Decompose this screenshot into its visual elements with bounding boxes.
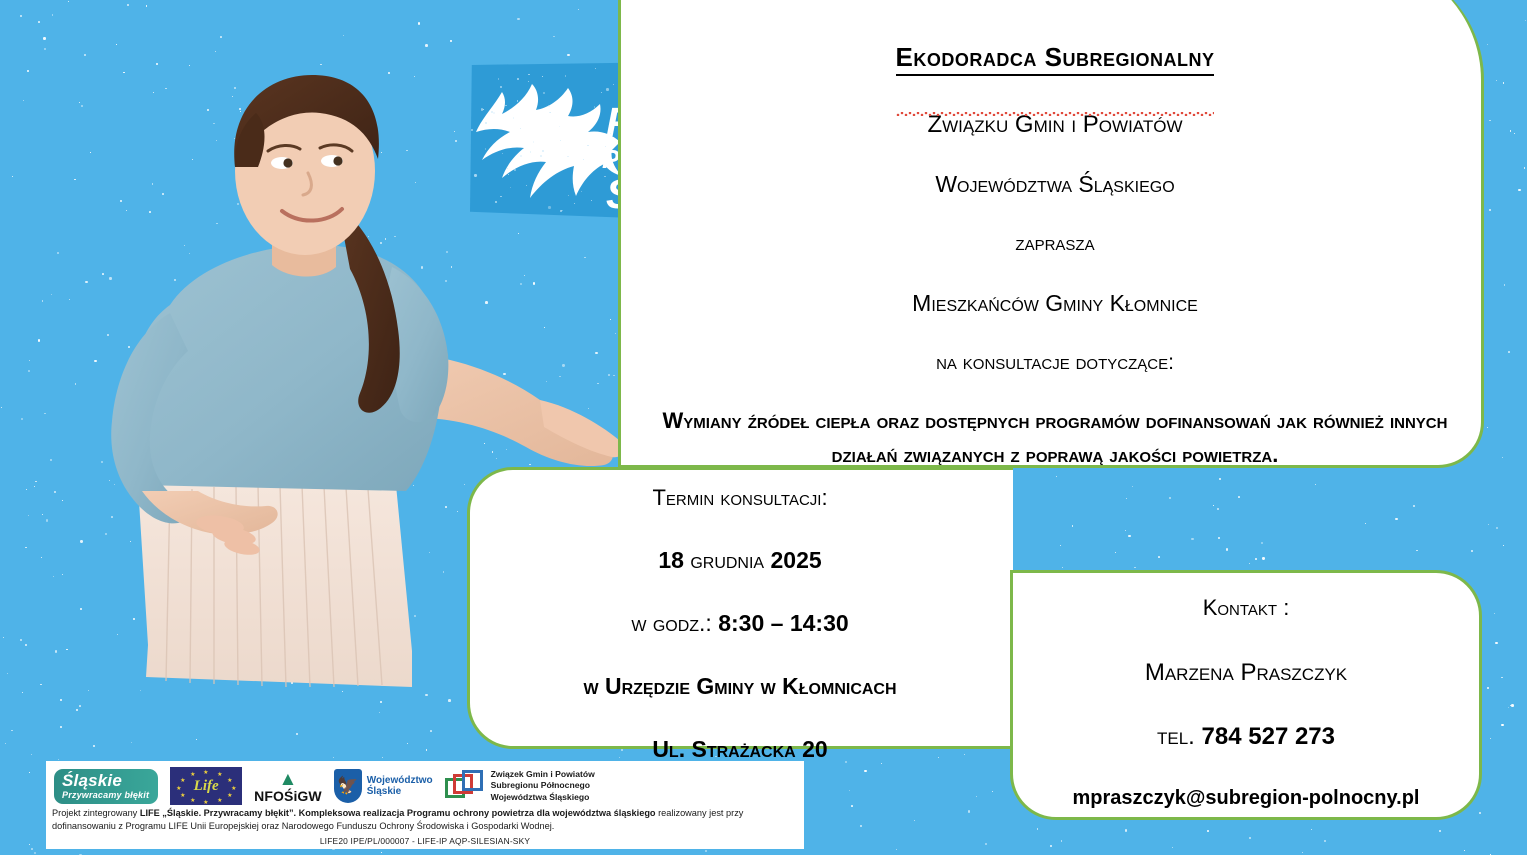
zgip-line-3: Województwa Śląskiego bbox=[491, 792, 595, 803]
wojewodztwo-line-2: Śląskie bbox=[367, 786, 433, 798]
termin-date-day: 18 bbox=[658, 547, 684, 573]
slaskie-logo-badge: Śląskie Przywracamy błękit bbox=[54, 769, 158, 804]
tree-icon: ▲ bbox=[279, 770, 298, 789]
logo-nfosigw: ▲ NFOŚiGW bbox=[254, 766, 322, 806]
logo-row: Śląskie Przywracamy błękit ★ ★★ ★★ ★★ ★★… bbox=[54, 765, 798, 807]
slaskie-title: Śląskie bbox=[62, 772, 122, 789]
slaskie-subtitle: Przywracamy błękit bbox=[62, 791, 149, 800]
termin-address: Ul. Strażacka 20 bbox=[480, 736, 1000, 763]
main-line-7: Wymiany źródeł ciepła oraz dostępnych pr… bbox=[660, 404, 1450, 472]
termin-date-month: grudnia bbox=[690, 547, 764, 573]
contact-phone-value: 784 527 273 bbox=[1202, 723, 1335, 750]
main-line-6: na konsultacje dotyczące: bbox=[660, 350, 1450, 376]
termin-card-text: Termin konsultacji: 18 grudnia 2025 w go… bbox=[480, 485, 1000, 763]
contact-phone-label: tel. bbox=[1157, 723, 1195, 750]
termin-heading: Termin konsultacji: bbox=[480, 485, 1000, 511]
logo-eu-life: ★ ★★ ★★ ★★ ★★ ★★ ★ Life bbox=[170, 766, 242, 806]
wojewodztwo-line-1: Województwo bbox=[367, 775, 433, 787]
main-line-5: Mieszkańców Gminy Kłomnice bbox=[660, 289, 1450, 318]
funding-disclaimer: Projekt zintegrowany LIFE „Śląskie. Przy… bbox=[52, 807, 798, 847]
contact-heading: Kontakt : bbox=[1022, 595, 1470, 621]
termin-address-value: Strażacka 20 bbox=[691, 736, 827, 762]
termin-place-value: Urzędzie Gminy w Kłomnicach bbox=[605, 673, 897, 699]
zgip-line-1: Związek Gmin i Powiatów bbox=[491, 769, 595, 780]
termin-hours-value: 8:30 – 14:30 bbox=[718, 610, 848, 636]
page-title: Ekodoradca Subregionalny bbox=[896, 42, 1215, 76]
nfosigw-label: NFOŚiGW bbox=[254, 789, 322, 803]
main-line-3: Województwa Śląskiego bbox=[660, 170, 1450, 199]
disclaimer-line-1-prefix: Projekt zintegrowany bbox=[52, 808, 140, 818]
termin-hours: w godz.: 8:30 – 14:30 bbox=[480, 610, 1000, 637]
contact-person: Marzena Praszczyk bbox=[1022, 659, 1470, 687]
disclaimer-project-id: LIFE20 IPE/PL/000007 - LIFE-IP AQP-SILES… bbox=[52, 835, 798, 847]
interlocking-squares-icon bbox=[445, 770, 485, 802]
termin-place: w Urzędzie Gminy w Kłomnicach bbox=[480, 673, 1000, 700]
contact-email[interactable]: mpraszczyk@subregion-polnocny.pl bbox=[1022, 787, 1470, 810]
termin-place-prefix: w bbox=[583, 673, 598, 699]
life-wordmark: Life bbox=[194, 778, 219, 795]
zgip-line-2: Subregionu Północnego bbox=[491, 780, 595, 791]
main-card-text: Ekodoradca Subregionalny Związku Gmin i … bbox=[660, 42, 1450, 472]
spellcheck-underline bbox=[896, 112, 1215, 116]
funding-logo-strip: Śląskie Przywracamy błękit ★ ★★ ★★ ★★ ★★… bbox=[46, 761, 804, 849]
termin-address-prefix: Ul. bbox=[652, 736, 685, 762]
logo-wojewodztwo-slaskie: 🦅 Województwo Śląskie bbox=[334, 766, 433, 806]
poster-canvas: BIERZEMY POWIETRZE POD SWOJE SKRZYDŁA Ek… bbox=[0, 0, 1527, 855]
eu-life-flag: ★ ★★ ★★ ★★ ★★ ★★ ★ Life bbox=[170, 767, 242, 805]
eagle-shield-icon: 🦅 bbox=[334, 769, 362, 803]
disclaimer-line-1-bold: LIFE „Śląskie. Przywracamy błękit”. Komp… bbox=[140, 808, 656, 818]
logo-zgip: Związek Gmin i Powiatów Subregionu Półno… bbox=[445, 766, 595, 806]
termin-hours-label: w godz.: bbox=[631, 610, 712, 636]
contact-phone: tel. 784 527 273 bbox=[1022, 723, 1470, 751]
contact-card-text: Kontakt : Marzena Praszczyk tel. 784 527… bbox=[1022, 595, 1470, 810]
eu-stars-icon: ★ bbox=[203, 770, 208, 776]
main-line-4: zaprasza bbox=[660, 231, 1450, 257]
termin-date-year: 2025 bbox=[770, 547, 821, 573]
logo-slaskie: Śląskie Przywracamy błękit bbox=[54, 766, 158, 806]
termin-date: 18 grudnia 2025 bbox=[480, 547, 1000, 574]
